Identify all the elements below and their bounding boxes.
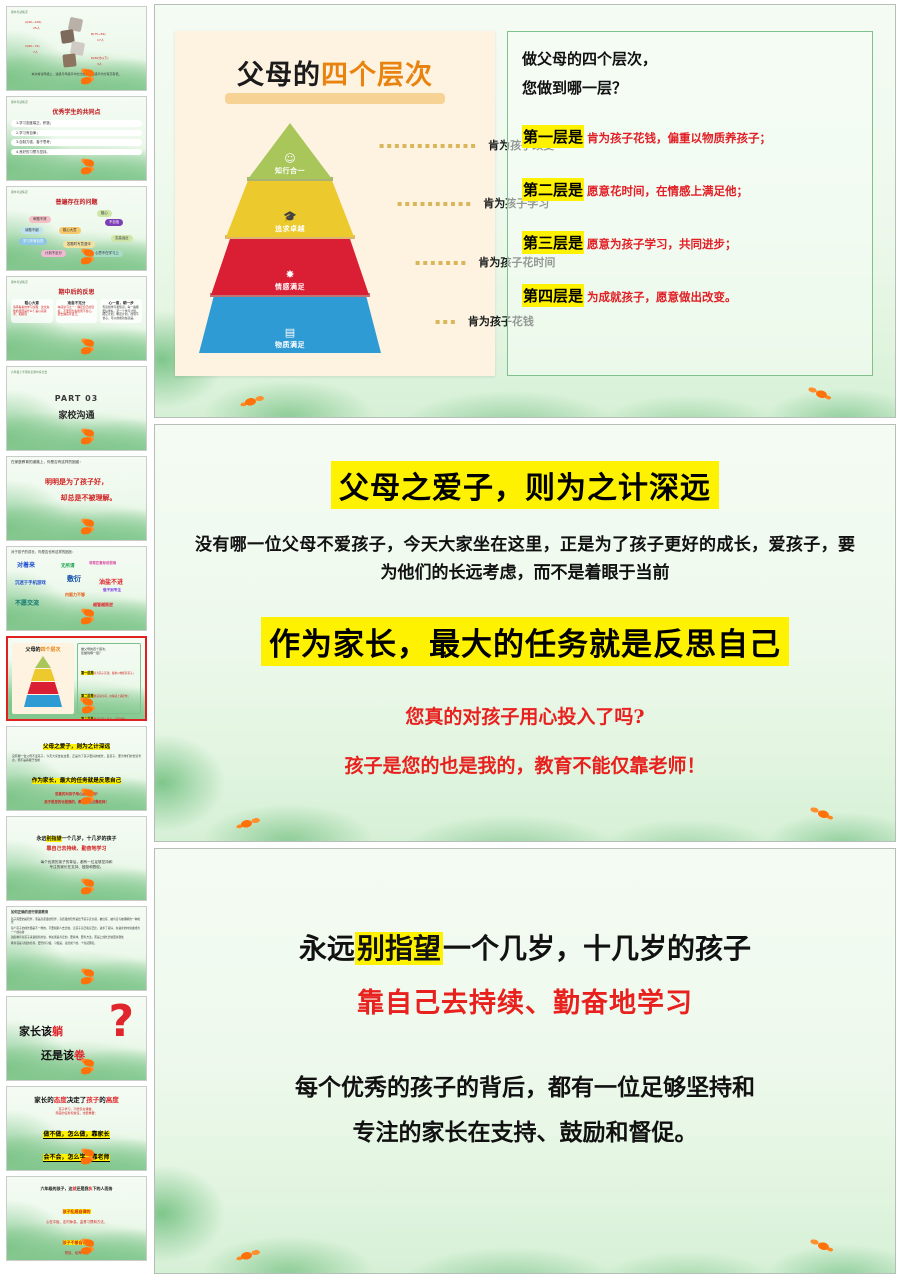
slide-thumbnail-11[interactable]: 如何正确的进行家庭教育 孩子需要的是陪伴，而是高质量的陪伴，高质量的陪伴是给予孩…: [6, 906, 147, 991]
pyramid-title: 父母的四个层次: [175, 53, 495, 92]
leader-dots: ▪▪▪: [435, 317, 458, 326]
slide-thumbnail-12[interactable]: ? 家长该躺 还是该卷: [6, 996, 147, 1081]
pyramid-title-plain: 父母的: [237, 60, 321, 91]
slide-thumbnail-13[interactable]: 家长的态度决定了孩子的高度 孩子学习，不能仅在课堂， 家庭的任务和责任，也很重要…: [6, 1086, 147, 1171]
slide2-red-1: 您真的对孩子用心投入了吗?: [189, 702, 861, 729]
thumb-level-text: 愿意花时间，在情感上满足他；: [94, 695, 130, 698]
thumb-footer: 本次考试年级上、班级与年级平均分比较，各班级平均分有高有低。: [11, 72, 142, 76]
tag-item: 心思不在学习上: [91, 250, 123, 257]
thumb-red-1: 您真的对孩子用心投入了吗?: [12, 791, 141, 796]
level-4-tag: 第四层是: [522, 284, 584, 307]
word-item: 沉迷于手机游戏: [15, 580, 46, 586]
thumb-heading-1: 父母之爱子，则为之计深远: [43, 744, 110, 750]
thumb-header: 期中考试情况: [11, 10, 142, 14]
book-icon: ▤: [285, 327, 295, 338]
block-count-b: 17人: [97, 38, 104, 42]
question-line-2: 您做到哪一层？: [522, 77, 860, 100]
slide-stage: 父母的四个层次 ☺ 知行合一 🎓 追求卓越: [152, 0, 900, 1286]
slide-3[interactable]: 永远别指望一个几岁，十几岁的孩子 靠自己去持续、勤奋地学习 每个优秀的孩子的背后…: [154, 848, 896, 1274]
thumb-red-2: 孩子是您的也是我的，教育不能仅靠老师！: [12, 799, 141, 804]
level-4-text: 为成就孩子，愿意做出改变。: [587, 289, 737, 305]
bullet-item: 教育就是习惯的培养，要坚持习惯，习惯是，自然成个的，个性就那近。: [11, 942, 142, 946]
word-item: 做不到专注: [103, 588, 121, 593]
pyramid-tier-4: ▤ 物质满足: [199, 297, 381, 353]
slide-2[interactable]: 父母之爱子，则为之计深远 没有哪一位父母不爱孩子，今天大家坐在这里，正是为了孩子…: [154, 424, 896, 842]
final-mid: 心在平板、定时休息、监督习惯和方法。: [11, 1220, 142, 1225]
block-note-a: A(90~100): [25, 20, 41, 24]
level-row-4: 第四层是 为成就孩子，愿意做出改变。: [522, 284, 860, 307]
word-item: 非常在意却说很难: [89, 560, 116, 565]
word-item: 对着来: [17, 560, 35, 569]
pyramid-card: 父母的四个层次 ☺ 知行合一 🎓 追求卓越: [175, 31, 495, 376]
slide2-red-2: 孩子是您的也是我的，教育不能仅靠老师！: [189, 751, 861, 778]
title-underline: [225, 93, 445, 104]
thumb-title: 期中后的反思: [11, 287, 142, 296]
thumb-line-2: 靠自己去持续、勤奋地学习: [13, 845, 140, 852]
level-1-text: 肯为孩子花钱，偏重以物质养孩子；: [587, 130, 771, 146]
part-number: PART 03: [11, 394, 142, 403]
thumb-header: 期中考试情况: [11, 100, 142, 104]
pyramid-title-accent: 四个层次: [321, 60, 433, 91]
slide-thumbnail-7[interactable]: 对于孩子的成长，你是否也有这样的困扰： 对着来 无所谓 非常在意却说很难 沉迷于…: [6, 546, 147, 631]
block-d-icon: [62, 53, 76, 67]
slide3-line1-pre: 永远: [299, 932, 355, 965]
final-hl-2: 孩子不够自律的: [63, 1240, 91, 1245]
word-item: 油盐不进: [99, 577, 123, 586]
slide-thumbnail-1[interactable]: 期中考试情况 A(90~100) 25人 B(75~89) 17人 C(60~7…: [6, 6, 147, 91]
pyramid-callouts: ▪▪▪▪▪▪▪▪▪▪▪▪▪ 肯为孩子改变 ▪▪▪▪▪▪▪▪▪▪ 肯为孩子学习 ▪…: [389, 127, 493, 359]
question-line1-pre: 家长该: [19, 1025, 52, 1038]
word-item: 敷衍: [67, 574, 81, 584]
level-row-3: 第三层是 愿意为孩子学习，共同进步；: [522, 231, 860, 254]
thumb-level-text: 肯为孩子花钱，偏重以物质养孩子；: [94, 672, 136, 675]
slide3-line1-mark: 别指望: [355, 932, 443, 965]
thumb-heading-2: 作为家长，最大的任务就是反思自己: [32, 778, 122, 784]
leader-dots: ▪▪▪▪▪▪▪▪▪▪: [397, 199, 473, 208]
tag-item: 不自信: [105, 219, 123, 226]
word-item: 不愿交流: [15, 598, 39, 607]
question-mark-icon: ?: [108, 1003, 134, 1041]
slide-1[interactable]: 父母的四个层次 ☺ 知行合一 🎓 追求卓越: [154, 4, 896, 418]
attitude-f: 高度: [106, 1096, 119, 1104]
final-end: 督促、培养习惯: [11, 1251, 142, 1256]
thumb-header: 期中考试情况: [11, 280, 142, 284]
attitude-hl-1: 做不做，怎么做，靠家长: [43, 1131, 109, 1139]
tag-item: 审题不清: [29, 216, 51, 223]
list-item: 1.学习态度端正、积极；: [11, 120, 142, 127]
slide-thumbnail-sidebar[interactable]: 期中考试情况 A(90~100) 25人 B(75~89) 17人 C(60~7…: [0, 0, 152, 1286]
block-count-d: 3人: [97, 62, 102, 66]
final-hl-1: 孩子乱规自律的: [63, 1209, 91, 1214]
attitude-a: 家长的: [34, 1096, 54, 1104]
final-e: 下的人而务: [93, 1186, 113, 1191]
thumb-line-1: 明明是为了孩子好，: [11, 477, 142, 487]
list-item: 3.自制力强，善于思考；: [11, 139, 142, 146]
thumb-line-2: 却总是不被理解。: [11, 493, 142, 503]
thumb-level-tag: 第三层是: [81, 717, 94, 721]
slide3-line1-post: 一个几岁，十几岁的孩子: [443, 932, 751, 965]
word-item: 内驱力不够: [65, 592, 85, 598]
list-item: 2.学习有自律；: [11, 130, 142, 137]
thumb-header: 六年级上学期家长期中家长会: [11, 370, 142, 374]
slide-thumbnail-10[interactable]: 永远别指望一个几岁，十几岁的孩子 靠自己去持续、勤奋地学习 每个优秀的孩子的背后…: [6, 816, 147, 901]
final-a: 六年级的孩子，这: [41, 1186, 73, 1191]
thumb-line1-mark: 别指望: [46, 836, 61, 842]
thumb-header: 期中考试情况: [11, 190, 142, 194]
final-c: 还是我: [77, 1186, 89, 1191]
slide-thumbnail-6[interactable]: 在家庭教育的道路上，你是否有这样的困惑： 明明是为了孩子好， 却总是不被理解。: [6, 456, 147, 541]
question-line2-pre: 还是该: [41, 1049, 74, 1062]
attitude-sub-2: 家庭的任务和责任，也很重要：: [11, 1111, 142, 1115]
column-body: 本段复习之一：确定自己的目标，不要因为失败而不甘心，要去确实查自己。: [58, 306, 96, 317]
thumb-header: 如何正确的进行家庭教育: [11, 910, 142, 915]
block-note-d: D(60分以下): [91, 56, 108, 60]
pyramid-tier-1: ☺ 知行合一: [248, 123, 332, 179]
slide3-line-2: 靠自己去持续、勤奋地学习: [189, 981, 861, 1020]
tag-item: 学习不够自觉: [19, 238, 47, 245]
thumb-paragraph: 没有哪一位父母不爱孩子，今天大家坐在这里，正是为了孩子更好的成长，爱孩子，要为他…: [12, 755, 141, 763]
thumb-tier-4: [24, 695, 62, 707]
level-row-2: 第二层是 愿意花时间，在情感上满足他；: [522, 178, 860, 201]
bullet-item: 孩子需要的是陪伴，而是高质量的陪伴，高质量的陪伴是给予孩子安全感、被信任、被肯定…: [11, 918, 142, 925]
presentation-window: 期中考试情况 A(90~100) 25人 B(75~89) 17人 C(60~7…: [0, 0, 900, 1286]
tier-4-label: 物质满足: [275, 340, 305, 350]
attitude-hl-2: 会不会，怎么学，靠老师: [43, 1154, 109, 1162]
block-count-a: 25人: [33, 26, 40, 30]
slide3-line-1: 永远别指望一个几岁，十几岁的孩子: [189, 927, 861, 967]
thumb-pyr-title-accent: 四个层次: [41, 647, 61, 653]
tier-2-label: 追求卓越: [275, 224, 305, 234]
slide-thumbnail-5[interactable]: 六年级上学期家长期中家长会 PART 03 家校沟通: [6, 366, 147, 451]
thumb-line1-post: 一个几岁，十几岁的孩子: [62, 836, 117, 842]
slide-thumbnail-14[interactable]: 六年级的孩子，这就还是我执下的人而务 孩子乱规自律的 心在平板、定时休息、监督习…: [6, 1176, 147, 1261]
column-body: 有意愿学习和知识，每一遍都更好学好，定一个学习计划，把它计划，制定计划，找到不甘…: [102, 306, 140, 321]
tier-3-label: 情感满足: [275, 282, 305, 292]
attitude-d: 孩子: [86, 1096, 99, 1104]
slide-thumbnail-3[interactable]: 期中考试情况 普遍存在的问题 审题不清 粗心 不自信 读题不细 粗心大意 志高远…: [6, 186, 147, 271]
tag-item: 粗心: [97, 210, 112, 217]
leader-dots: ▪▪▪▪▪▪▪: [415, 258, 468, 267]
thumb-level-text: 愿意为孩子学习，共同进步；: [94, 718, 128, 721]
thumb-tier-1: [35, 656, 51, 668]
tag-item: 答题时写意虚浮: [63, 241, 95, 248]
thumb-para-2: 专注的家长在支持、鼓励和督促。: [13, 865, 140, 870]
question-line2-mark: 卷: [74, 1049, 85, 1062]
question-line1-mark: 躺: [52, 1025, 63, 1038]
slide-thumbnail-4[interactable]: 期中考试情况 期中后的反思 粗心大意 请再看看的学习过程：这次失败的原因是什么？…: [6, 276, 147, 361]
word-item: 无所谓: [61, 563, 75, 569]
attitude-b: 态度: [54, 1096, 67, 1104]
thumb-header: 对于孩子的成长，你是否也有这样的困扰：: [11, 550, 142, 555]
block-count-c: 7人: [33, 50, 38, 54]
slide-thumbnail-9[interactable]: 父母之爱子，则为之计深远 没有哪一位父母不爱孩子，今天大家坐在这里，正是为了孩子…: [6, 726, 147, 811]
thumb-question-2: 您做到哪一层？: [81, 651, 137, 655]
attitude-c: 决定了: [67, 1096, 87, 1104]
level-2-tag: 第二层是: [522, 178, 584, 201]
slide2-heading-1: 父母之爱子，则为之计深远: [331, 461, 719, 509]
slide3-para-2: 专注的家长在支持、鼓励和督促。: [189, 1115, 861, 1152]
slide2-heading-2: 作为家长，最大的任务就是反思自己: [261, 617, 789, 666]
part-title: 家校沟通: [11, 408, 142, 421]
tag-item: 志高远近: [111, 235, 133, 242]
heart-sun-icon: ✸: [285, 269, 294, 280]
thumb-level-tag: 第二层是: [81, 694, 94, 698]
tier-1-label: 知行合一: [275, 166, 305, 176]
column-body: 请再看看的学习过程：这次失败的原因是什么？是以基思考、把握住: [13, 306, 51, 317]
cap-icon: 🎓: [283, 211, 297, 222]
tag-item: 粗心大意: [59, 227, 81, 234]
word-item: 越管越叛逆: [93, 602, 113, 608]
thumb-line1-pre: 永远: [36, 836, 46, 842]
face-icon: ☺: [284, 153, 295, 164]
block-note-c: C(60~74): [25, 44, 40, 48]
thumb-title: 普遍存在的问题: [11, 197, 142, 206]
slide-thumbnail-2[interactable]: 期中考试情况 优秀学生的共同点 1.学习态度端正、积极； 2.学习有自律； 3.…: [6, 96, 147, 181]
thumb-tier-3: [28, 682, 59, 694]
level-row-1: 第一层是 肯为孩子花钱，偏重以物质养孩子；: [522, 125, 860, 148]
pyramid-chart: ☺ 知行合一 🎓 追求卓越 ✸ 情感满足 ▤: [199, 123, 381, 355]
bullet-item: 每个孩子的成长都是不一样的，不要和别人去比较，让孩子自己和自己比，进步了就好，在…: [11, 927, 142, 934]
levels-text-card: 做父母的四个层次， 您做到哪一层？ 第一层是 肯为孩子花钱，偏重以物质养孩子； …: [507, 31, 873, 376]
list-item: 4.良好的习惯与坚持。: [11, 149, 142, 156]
level-2-text: 愿意花时间，在情感上满足他；: [587, 183, 748, 199]
pyramid-tier-2: 🎓 追求卓越: [226, 181, 354, 237]
leader-dots: ▪▪▪▪▪▪▪▪▪▪▪▪▪: [379, 141, 478, 150]
level-3-tag: 第三层是: [522, 231, 584, 254]
tag-item: 计划不足分: [41, 250, 66, 257]
level-1-tag: 第一层是: [522, 125, 584, 148]
block-note-b: B(75~89): [91, 32, 106, 36]
level-3-text: 愿意为孩子学习，共同进步；: [587, 236, 737, 252]
slide-thumbnail-8-selected[interactable]: 父母的四个层次 做父母的四个层次， 您做到哪一层？ 第一层是肯为孩子花钱，偏重以…: [6, 636, 147, 721]
thumb-header: 在家庭教育的道路上，你是否有这样的困惑：: [11, 460, 142, 465]
thumb-tier-2: [31, 669, 55, 681]
tag-item: 读题不细: [21, 227, 43, 234]
bullet-item: 鼓励教育对孩子来说很有用处，但如果是肯定的，要具体，要有方法，而是上成长比较更关…: [11, 936, 142, 940]
slide2-paragraph: 没有哪一位父母不爱孩子，今天大家坐在这里，正是为了孩子更好的成长，爱孩子，要为他…: [189, 531, 861, 587]
thumb-pyr-title-plain: 父母的: [25, 647, 40, 653]
question-line-1: 做父母的四个层次，: [522, 48, 860, 71]
thumb-title: 优秀学生的共同点: [11, 107, 142, 116]
pyramid-tier-3: ✸ 情感满足: [211, 239, 369, 295]
thumb-level-tag: 第一层是: [81, 671, 94, 675]
slide3-para-1: 每个优秀的孩子的背后，都有一位足够坚持和: [189, 1070, 861, 1107]
